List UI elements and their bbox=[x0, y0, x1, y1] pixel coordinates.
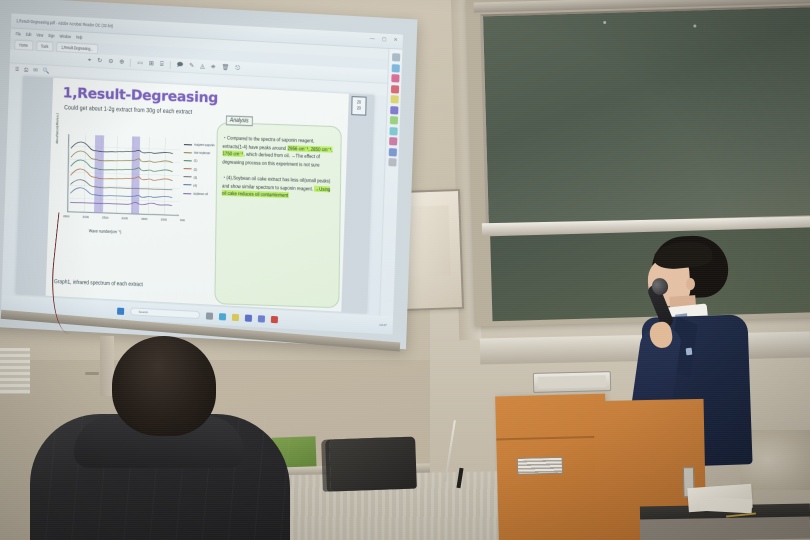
more-tools-icon[interactable] bbox=[388, 158, 396, 166]
page-number-badge: 20 20 bbox=[351, 96, 366, 116]
menu-item-help[interactable]: Help bbox=[76, 34, 83, 40]
chart-plot-area bbox=[67, 134, 180, 216]
maximize-icon[interactable]: ▢ bbox=[382, 37, 387, 43]
teams-icon[interactable] bbox=[244, 314, 251, 321]
toolbar-divider-2 bbox=[169, 61, 170, 69]
spectra-curves bbox=[68, 134, 181, 216]
cursor-icon[interactable]: ⌖ bbox=[88, 57, 92, 63]
rotate-icon[interactable]: ↻ bbox=[97, 58, 102, 64]
fill-sign-icon[interactable] bbox=[389, 137, 397, 145]
chalkboard-surface-upper bbox=[480, 5, 810, 224]
search-input[interactable]: Search bbox=[129, 307, 199, 319]
legend-label: soybean oil bbox=[193, 191, 208, 196]
share-icon[interactable]: ⎋ bbox=[235, 65, 240, 71]
analysis-p1-text-b: , which derived from oil. bbox=[244, 151, 290, 159]
presenter-school-badge bbox=[686, 348, 693, 356]
pen-icon[interactable]: ✎ bbox=[189, 63, 194, 69]
analysis-paragraph-2: ・(4),Soybean oil cake extract has less o… bbox=[222, 174, 335, 202]
search-icon[interactable] bbox=[392, 53, 400, 61]
comment-icon[interactable]: 🗩 bbox=[176, 62, 183, 68]
comment-icon[interactable] bbox=[390, 95, 398, 103]
window-title: 1,Result-Degreasing.pdf - Adobe Acrobat … bbox=[16, 18, 113, 29]
papers-second-sheet bbox=[700, 497, 753, 514]
legend-label: (4) bbox=[193, 183, 197, 188]
delete-icon[interactable]: 🗑 bbox=[222, 64, 230, 70]
monitor-screen bbox=[538, 375, 606, 389]
clock-label[interactable]: 13:27 bbox=[379, 323, 387, 327]
analysis-paragraph-1: ・Compared to the spectra of saponin reag… bbox=[222, 135, 335, 171]
start-button[interactable] bbox=[117, 307, 124, 314]
print-icon[interactable]: ⎙ bbox=[24, 67, 29, 74]
legend-label: raw soybean bbox=[194, 150, 210, 155]
combine-icon[interactable] bbox=[390, 106, 398, 114]
toolbar-divider bbox=[130, 58, 131, 66]
audience-hair bbox=[112, 336, 216, 436]
menu-item-file[interactable]: File bbox=[16, 31, 21, 37]
legend-label: (2) bbox=[194, 167, 198, 172]
pages-icon[interactable] bbox=[391, 64, 399, 72]
classroom-presentation-photo: 1,Result-Degreasing.pdf - Adobe Acrobat … bbox=[0, 0, 810, 540]
chart-y-axis-label: Absorbance(Abs/a.u.) bbox=[55, 84, 60, 144]
xtick-3: 2000 bbox=[121, 216, 127, 220]
legend-label: reagent saponin bbox=[194, 142, 215, 147]
desk-front-panel bbox=[640, 517, 810, 540]
tab-home[interactable]: Home bbox=[14, 39, 33, 51]
legend-label: (3) bbox=[193, 175, 197, 180]
mail-icon[interactable] bbox=[231, 313, 238, 320]
menu-item-window[interactable]: Window bbox=[59, 33, 71, 39]
highlight-icon[interactable]: ⌸ bbox=[160, 61, 164, 67]
compress-icon[interactable] bbox=[388, 148, 396, 156]
email-icon[interactable]: ✉ bbox=[33, 68, 38, 74]
page-total: 20 bbox=[357, 105, 361, 112]
xtick-4: 1500 bbox=[141, 217, 147, 221]
audience-member bbox=[40, 336, 270, 540]
organize-icon[interactable] bbox=[389, 116, 397, 124]
window-controls[interactable]: — ▢ ✕ bbox=[370, 36, 398, 44]
menu-item-view[interactable]: View bbox=[36, 32, 43, 38]
stacked-chairs bbox=[329, 437, 417, 492]
protect-icon[interactable] bbox=[389, 127, 397, 135]
confidence-monitor bbox=[533, 371, 611, 393]
shapes-icon[interactable]: ◬ bbox=[200, 63, 205, 69]
close-icon[interactable]: ✕ bbox=[393, 37, 397, 43]
window-blinds bbox=[0, 348, 30, 394]
save-icon[interactable]: ⌸ bbox=[15, 66, 19, 73]
export-icon[interactable] bbox=[390, 85, 398, 93]
search-icon[interactable]: 🔍 bbox=[43, 68, 50, 74]
menu-item-edit[interactable]: Edit bbox=[26, 31, 32, 37]
minimize-icon[interactable]: — bbox=[370, 36, 375, 42]
podium bbox=[495, 394, 609, 540]
store-icon[interactable] bbox=[257, 315, 264, 322]
xtick-2: 2500 bbox=[102, 215, 108, 219]
stamp-icon[interactable]: ⎈ bbox=[211, 64, 216, 70]
podium-vent-grille bbox=[517, 457, 563, 475]
acrobat-icon[interactable] bbox=[270, 315, 277, 322]
presenter-ear bbox=[686, 278, 695, 290]
tab-tools[interactable]: Tools bbox=[36, 40, 54, 52]
explorer-icon[interactable] bbox=[205, 312, 212, 319]
edge-icon[interactable] bbox=[218, 313, 225, 320]
fit-page-icon[interactable]: ▭ bbox=[137, 60, 143, 66]
xtick-5: 1000 bbox=[160, 217, 166, 221]
zoom-in-icon[interactable]: ⊕ bbox=[119, 59, 124, 65]
analysis-callout: Analysis ・Compared to the spectra of sap… bbox=[214, 122, 341, 308]
xtick-6: 500 bbox=[180, 218, 185, 222]
layout-icon[interactable]: ⊞ bbox=[149, 60, 154, 66]
edit-pdf-icon[interactable] bbox=[391, 74, 399, 82]
legend-label: (1) bbox=[194, 159, 198, 164]
zoom-out-icon[interactable]: ⊖ bbox=[108, 58, 113, 64]
system-tray[interactable]: 13:27 bbox=[379, 323, 387, 327]
menu-item-sign[interactable]: Sign bbox=[48, 33, 55, 39]
analysis-heading: Analysis bbox=[226, 115, 253, 126]
